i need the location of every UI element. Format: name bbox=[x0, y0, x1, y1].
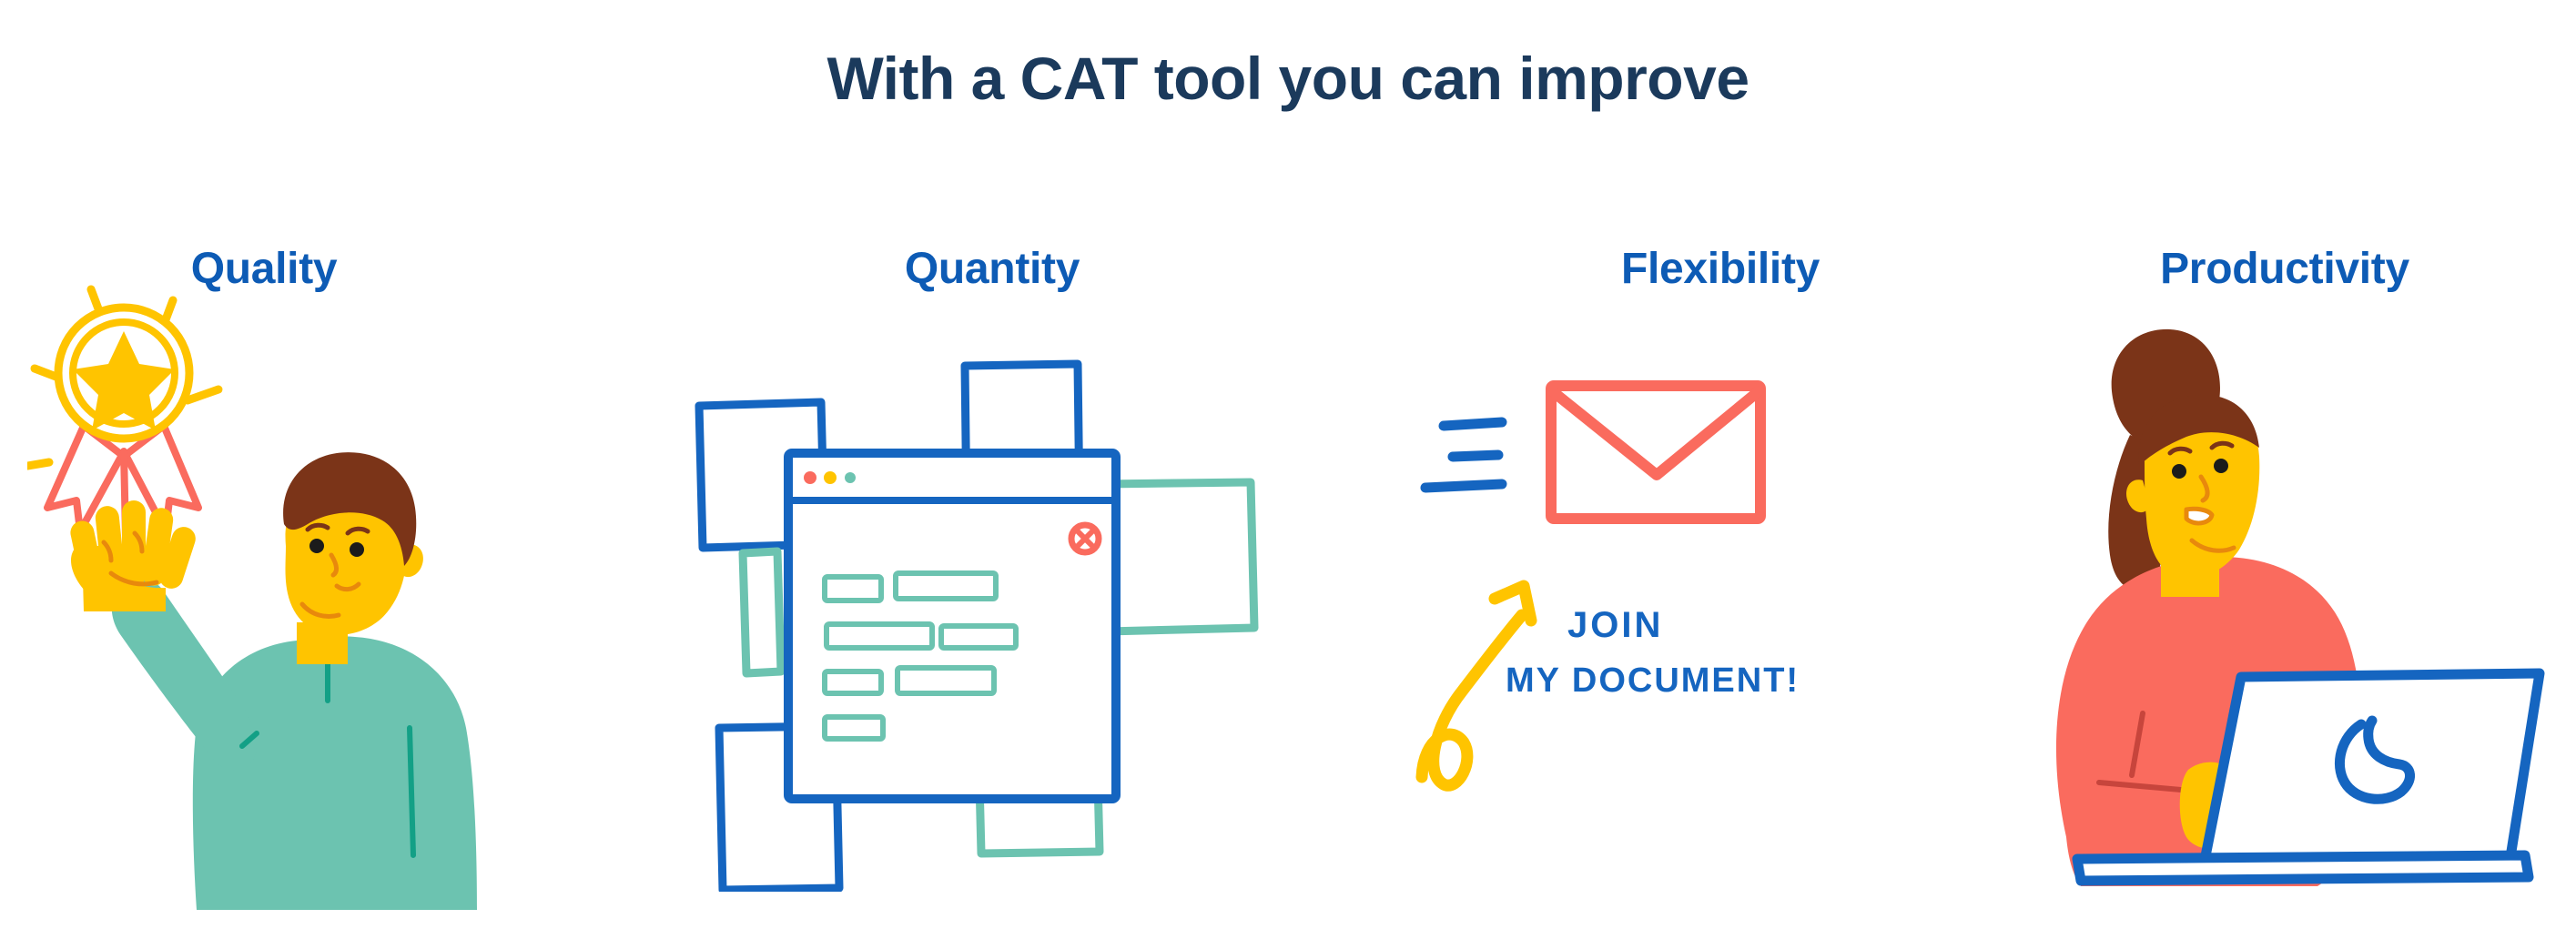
dot-green bbox=[845, 472, 856, 483]
heading-flexibility: Flexibility bbox=[1511, 244, 1930, 294]
heading-productivity: Productivity bbox=[2048, 244, 2521, 294]
browser-window bbox=[788, 453, 1116, 799]
person-eye-left bbox=[2172, 464, 2186, 479]
traffic-light-dots bbox=[804, 471, 856, 484]
speed-lines-icon bbox=[1425, 422, 1502, 488]
document-outline-teal-left bbox=[743, 551, 781, 673]
column-flexibility: Flexibility bbox=[1311, 0, 1984, 949]
person-mouth bbox=[2186, 509, 2212, 523]
column-quality: Quality bbox=[0, 0, 674, 949]
illustration-quantity bbox=[692, 346, 1311, 892]
dot-yellow bbox=[824, 471, 837, 484]
illustration-flexibility: JOIN MY DOCUMENT! bbox=[1411, 364, 1975, 837]
handwriting-join: JOIN bbox=[1567, 605, 1663, 645]
heading-quantity: Quantity bbox=[674, 244, 1311, 294]
person-eye-left bbox=[309, 539, 324, 553]
infographic-canvas: With a CAT tool you can improve Quality bbox=[0, 0, 2576, 949]
person-eye-right bbox=[2214, 459, 2228, 473]
illustration-quality bbox=[27, 273, 610, 910]
person-sweater-teal bbox=[193, 636, 477, 910]
dot-red bbox=[804, 471, 816, 484]
handwriting-my-document: MY DOCUMENT! bbox=[1506, 661, 1800, 700]
illustration-productivity bbox=[1993, 328, 2576, 892]
person-eye-right bbox=[350, 542, 364, 557]
columns-container: Quality bbox=[0, 0, 2576, 949]
column-quantity: Quantity bbox=[674, 0, 1311, 949]
envelope-icon bbox=[1551, 386, 1760, 519]
document-outline-teal-right bbox=[1103, 482, 1254, 631]
column-productivity: Productivity bbox=[1984, 0, 2576, 949]
